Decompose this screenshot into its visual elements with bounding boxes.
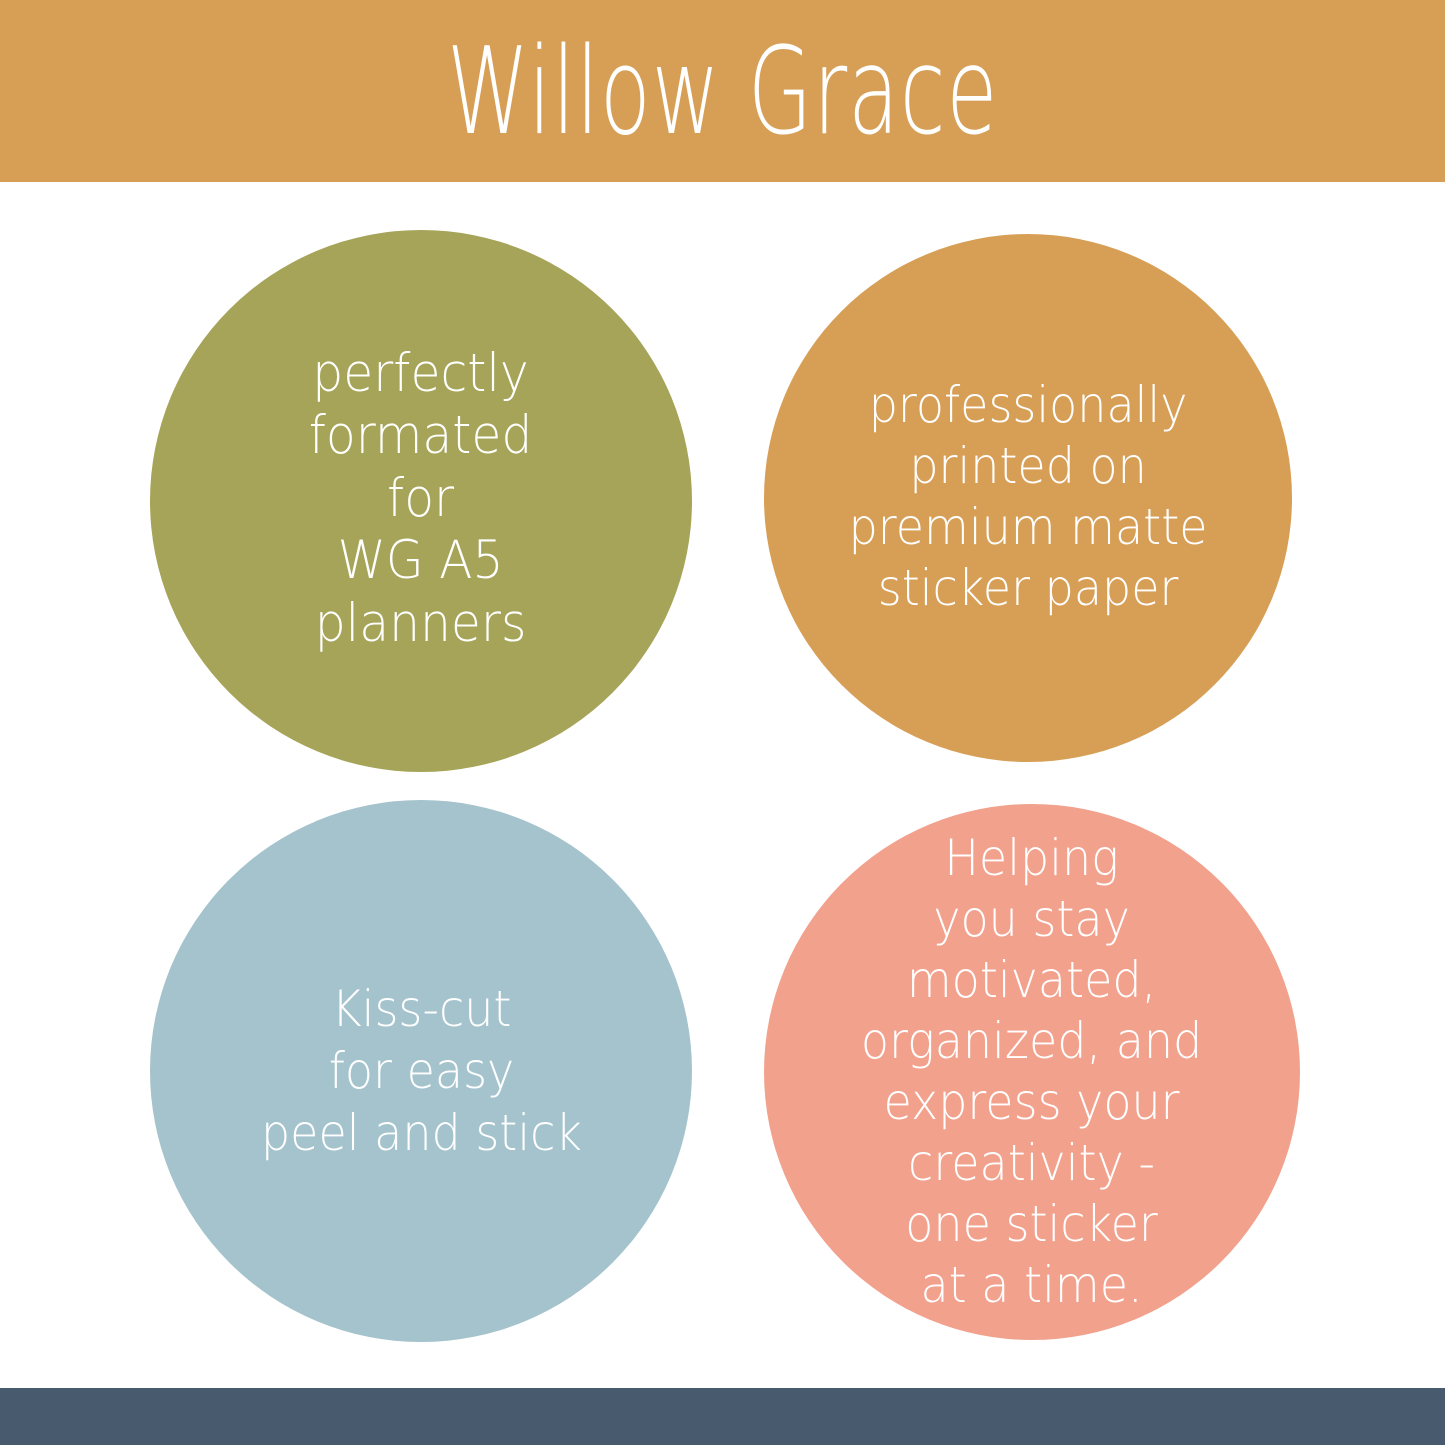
product-info-graphic: Willow Grace perfectly formated for WG A…: [0, 0, 1445, 1445]
feature-text-kisscut: Kiss-cut for easy peel and stick: [260, 978, 581, 1164]
feature-circle-printing: professionally printed on premium matte …: [764, 234, 1292, 762]
footer-bar: [0, 1388, 1445, 1445]
feature-text-mission: Helping you stay motivated, organized, a…: [861, 828, 1202, 1316]
feature-circle-mission: Helping you stay motivated, organized, a…: [764, 804, 1300, 1340]
header-banner: Willow Grace: [0, 0, 1445, 182]
feature-circle-planners: perfectly formated for WG A5 planners: [150, 230, 692, 772]
feature-circle-kisscut: Kiss-cut for easy peel and stick: [150, 800, 692, 1342]
feature-circle-grid: perfectly formated for WG A5 planners pr…: [0, 182, 1445, 1388]
brand-title: Willow Grace: [447, 31, 998, 152]
feature-text-planners: perfectly formated for WG A5 planners: [309, 343, 533, 656]
feature-text-printing: professionally printed on premium matte …: [849, 375, 1208, 619]
